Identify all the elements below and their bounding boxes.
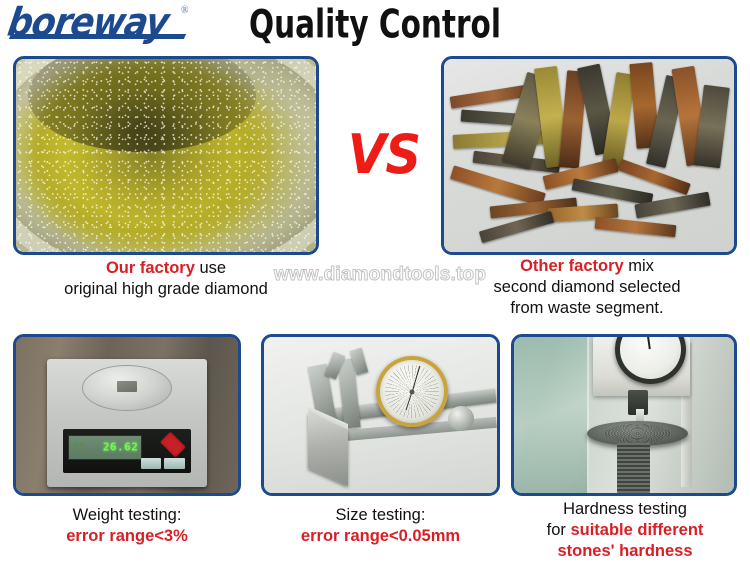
caption-weight-testing-value: error range<3% [13,526,241,547]
scale-control-panel: 88 26.62 [63,429,191,472]
image-size-testing-caliper [261,334,500,496]
caption-weight-testing-title: Weight testing: [13,505,241,526]
caption-our-factory-black: use [195,259,226,277]
caliper-dial-gauge [376,356,448,428]
photo-diamond-grit [16,59,316,252]
caption-our-factory-red: Our factory [106,259,195,277]
lcd-weight-reading: 26.62 [103,441,139,454]
hardness-dial-needle [646,334,651,350]
photo-size-caliper [264,337,497,493]
caption-hardness-testing-line2: for suitable different [505,520,745,541]
caption-size-testing-title: Size testing: [261,505,500,526]
caption-hardness-testing-line2-red: suitable different [570,521,703,539]
hardness-tester-glass-panel [514,337,589,493]
caption-size-testing: Size testing: error range<0.05mm [261,505,500,547]
caliper-thumb-roller [448,406,474,431]
scale-diamond-logo-icon [159,431,185,457]
hardness-tester-elevating-screw [617,443,650,493]
caliper-dial-hub [409,389,414,394]
page-title: Quality Control [68,4,683,47]
caption-hardness-testing-line3: stones' hardness [505,541,745,562]
photo-waste-segments [444,59,734,252]
caption-weight-testing: Weight testing: error range<3% [13,505,241,547]
image-weight-testing-scale: 88 26.62 [13,334,241,496]
caption-hardness-testing-line1: Hardness testing [505,499,745,520]
image-hardness-testing-machine [511,334,737,496]
photo-weight-scale: 88 26.62 [16,337,238,493]
vs-label: VS [342,128,427,182]
scale-keypad [141,458,184,469]
caption-size-testing-value: error range<0.05mm [261,526,500,547]
anvil-grooves [603,424,672,443]
scale-body: 88 26.62 [47,359,207,487]
quality-control-poster: boreway ® Quality Control VS [0,0,750,572]
lcd-ghost-digits: 88 [72,441,85,454]
image-our-factory-diamond-grit [13,56,319,255]
scale-lcd-display: 88 26.62 [68,435,142,459]
watermark-url: www.diamondtools.top [255,264,505,286]
scale-sample-object [117,381,136,393]
poster-header: boreway ® Quality Control [0,0,750,50]
image-other-factory-waste-segments [441,56,737,255]
caption-other-factory-red: Other factory [520,257,624,275]
photo-hardness-tester [514,337,734,493]
caption-hardness-testing: Hardness testing for suitable different … [505,499,745,562]
grit-sparkle-texture [16,59,316,252]
caption-other-factory-line3: from waste segment. [437,298,737,319]
scale-key-on-off[interactable] [164,458,184,469]
scale-key-tare[interactable] [141,458,161,469]
rusty-segment-pile [444,59,734,252]
caption-other-factory-black: mix [624,257,654,275]
caption-hardness-testing-line2-black: for [547,521,571,539]
